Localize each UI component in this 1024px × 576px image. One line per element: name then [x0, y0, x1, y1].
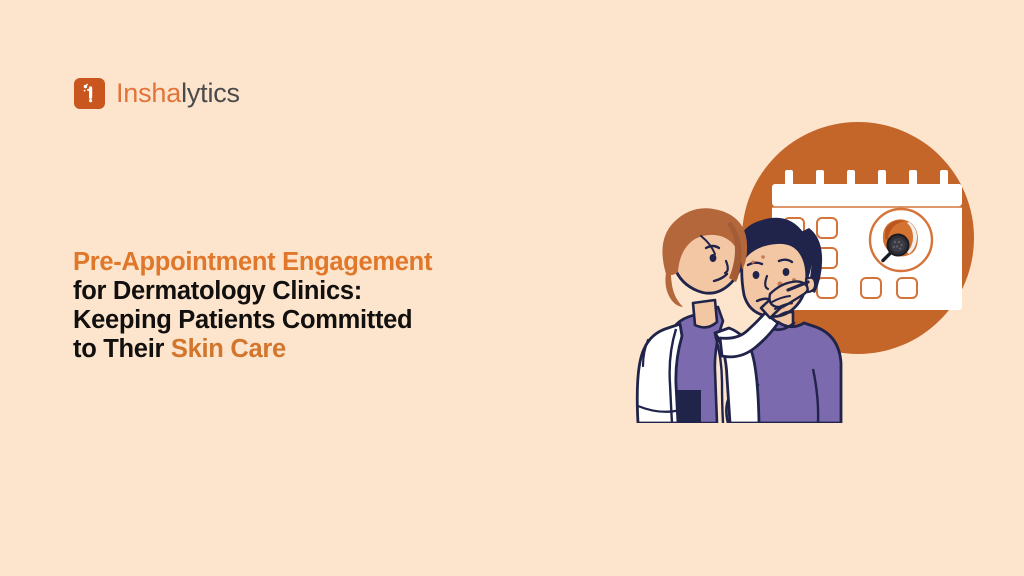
headline-line-4: to Their Skin Care	[73, 335, 593, 364]
headline-line-3: Keeping Patients Committed	[73, 306, 593, 335]
dermatology-consultation-illustration	[620, 118, 1000, 423]
brand-logo-text: Inshalytics	[116, 80, 240, 107]
doctor-eye	[710, 254, 717, 262]
inshalytics-mark-icon	[74, 78, 105, 109]
calendar-header-band	[772, 184, 962, 206]
patient-eye-left	[753, 271, 760, 279]
page-title: Pre-Appointment Engagement for Dermatolo…	[73, 248, 593, 364]
brand-name-part-two: lytics	[181, 78, 240, 108]
skin-examination-badge	[870, 209, 932, 271]
promo-banner: Inshalytics Pre-Appointment Engagement f…	[0, 0, 1024, 576]
brand-logo[interactable]: Inshalytics	[74, 78, 240, 109]
patient-eye-right	[783, 268, 790, 276]
brand-name-part-one: Insha	[116, 78, 181, 108]
headline-line-2: for Dermatology Clinics:	[73, 277, 593, 306]
headline-line-4-highlight: Skin Care	[171, 335, 286, 363]
headline-line-1: Pre-Appointment Engagement	[73, 248, 593, 277]
headline-line-4-prefix: to Their	[73, 335, 171, 363]
